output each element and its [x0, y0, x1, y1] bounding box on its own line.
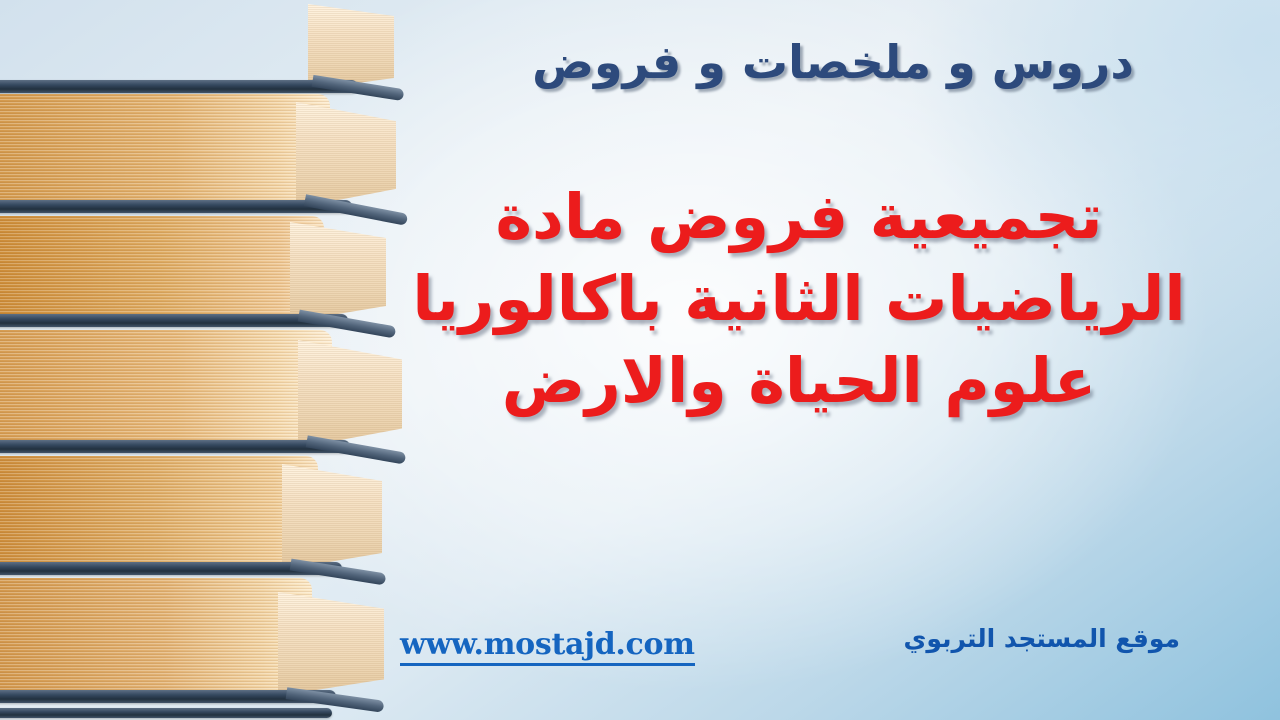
banner-canvas: دروس و ملخصات و فروض تجميعية فروض مادة ا… — [0, 0, 1280, 720]
book-3 — [0, 216, 360, 328]
book-1 — [0, 0, 360, 90]
book-3-cover — [0, 314, 348, 327]
book-2-pages — [0, 94, 330, 210]
book-5-inner-edge — [282, 464, 382, 570]
book-6-pages — [0, 578, 312, 700]
book-5-pages — [0, 456, 318, 572]
book-5 — [0, 456, 360, 576]
book-4-cover — [0, 440, 350, 453]
book-6 — [0, 578, 360, 720]
title-line-2: الرياضيات الثانية باكالوريا — [330, 258, 1268, 340]
website-url-link[interactable]: www.mostajd.com — [400, 627, 695, 666]
book-4-pages — [0, 330, 332, 450]
title-line-1: تجميعية فروض مادة — [330, 176, 1268, 258]
site-name-label: موقع المستجد التربوي — [903, 624, 1180, 653]
book-4 — [0, 330, 360, 454]
book-3-pages — [0, 216, 324, 324]
title-line-3: علوم الحياة والارض — [330, 340, 1268, 422]
banner-header: دروس و ملخصات و فروض — [400, 36, 1266, 89]
book-2 — [0, 94, 360, 214]
book-1-pages — [0, 0, 338, 90]
book-2-cover — [0, 200, 352, 213]
book-6-cover-lower — [0, 708, 332, 718]
book-1-cover — [0, 80, 358, 93]
banner-title: تجميعية فروض مادة الرياضيات الثانية باكا… — [330, 176, 1268, 421]
book-6-inner-edge — [278, 592, 384, 696]
